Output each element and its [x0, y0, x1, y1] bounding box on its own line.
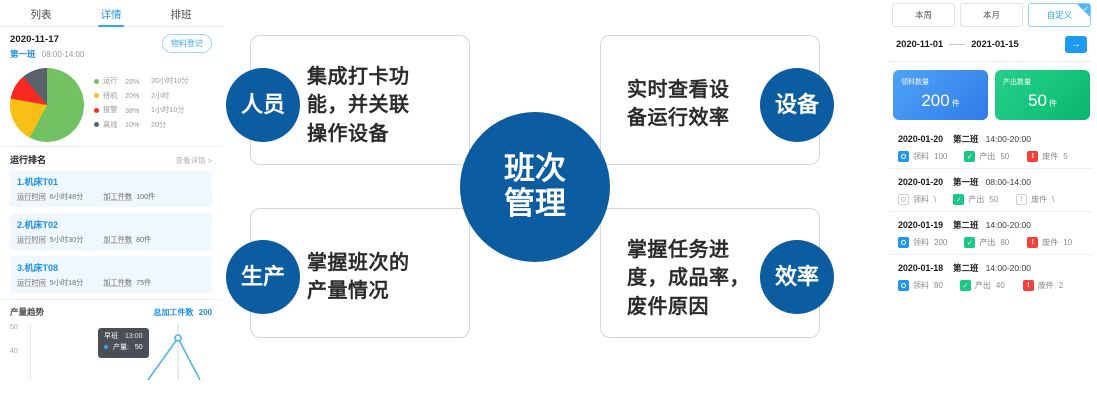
stat-label: 废件: [1042, 237, 1058, 248]
stat-label: 领料: [913, 237, 929, 248]
pie-chart-graphic: [10, 68, 84, 142]
shift-time: 08:00-14:00: [42, 50, 85, 59]
parts-value: 80件: [136, 235, 151, 245]
record-header: 2020-01-20 第二班 14:00-20:00: [898, 133, 1085, 145]
kpi-value: 200: [921, 91, 949, 110]
stat-label: 产出: [975, 280, 991, 291]
record-header: 2020-01-18 第二班 14:00-20:00: [898, 262, 1085, 274]
y-tick-40: 40: [10, 348, 18, 355]
range-tab-custom[interactable]: 自定义 ✓: [1028, 3, 1091, 27]
legend-dot-running: [94, 79, 99, 84]
record-date: 2020-01-20: [898, 134, 943, 144]
legend-label: 运行: [103, 76, 125, 86]
machine-name: 2.机床T02: [17, 218, 205, 231]
screenshot-root: 列表 详情 排班 2020-11-17 第一班 08:00-14:00 物料登记…: [0, 0, 1097, 418]
trend-title: 产量趋势: [10, 306, 44, 318]
ranking-title: 运行排名: [10, 153, 46, 166]
shift-info: 2020-11-17 第一班 08:00-14:00: [10, 34, 84, 60]
kpi-label: 产出数量: [1003, 77, 1082, 87]
kpi-value: 50: [1028, 91, 1047, 110]
stat-scrap: ! 废件 2: [1023, 280, 1063, 291]
runtime-label: 运行时间: [17, 235, 46, 245]
stat-value: 5: [1063, 152, 1067, 161]
node-circle-efficiency: 效率: [760, 240, 834, 314]
target-icon: [898, 280, 909, 291]
stat-output: ✓ 产出 50: [964, 151, 1009, 162]
hub-circle-shift-management: 班次 管理: [460, 112, 610, 262]
record-shift: 第二班: [953, 262, 979, 274]
feature-card-personnel-text: 集成打卡功 能，并关联 操作设备: [307, 63, 410, 148]
ranking-more-link[interactable]: 查看详情 >: [176, 155, 212, 166]
alert-icon: !: [1027, 237, 1038, 248]
record-date: 2020-01-19: [898, 220, 943, 230]
kpi-label: 领料数量: [901, 77, 980, 87]
stat-value: 200: [934, 238, 947, 247]
stat-label: 废件: [1031, 194, 1047, 205]
stat-value: 50: [1000, 152, 1009, 161]
feature-card-equipment-text: 实时查看设 备运行效率: [627, 76, 730, 133]
record-time: 14:00-20:00: [986, 134, 1031, 144]
legend-duration: 20分: [151, 120, 166, 130]
stat-label: 产出: [979, 237, 995, 248]
stat-label: 产出: [979, 151, 995, 162]
range-tab-this-week[interactable]: 本周: [892, 3, 955, 27]
stat-value: 80: [1000, 238, 1009, 247]
record-shift: 第一班: [953, 176, 979, 188]
record-row[interactable]: 2020-01-18 第二班 14:00-20:00 领料 80 ✓ 产出 40…: [890, 255, 1093, 297]
legend-label: 离线: [103, 120, 125, 130]
legend-percent: 28%: [125, 77, 151, 86]
record-time: 14:00-20:00: [986, 220, 1031, 230]
ranking-item[interactable]: 2.机床T02 运行时间 5小时30分 加工件数 80件: [10, 213, 212, 250]
stat-output: ✓ 产出 50: [953, 194, 998, 205]
runtime-value: 5小时30分: [50, 235, 84, 245]
runtime-label: 运行时间: [17, 278, 46, 288]
alert-icon: !: [1016, 194, 1027, 205]
machine-stats: 运行时间 5小时18分 加工件数 75件: [17, 278, 205, 288]
range-tab-custom-label: 自定义: [1047, 10, 1073, 20]
shift-subline: 第一班 08:00-14:00: [10, 48, 84, 60]
check-icon: ✓: [964, 237, 975, 248]
tooltip-series: 产量: 50: [104, 343, 143, 354]
legend-label: 报警: [103, 105, 125, 115]
runtime-value: 5小时18分: [50, 278, 84, 288]
record-row[interactable]: 2020-01-20 第一班 08:00-14:00 领料 \ ✓ 产出 50 …: [890, 169, 1093, 212]
material-record-panel: 本周 本月 自定义 ✓ 2020-11-01 2021-01-15 → 领料数量…: [886, 0, 1097, 418]
record-shift: 第二班: [953, 219, 979, 231]
stat-label: 领料: [913, 194, 929, 205]
stat-value: \: [934, 195, 936, 204]
shift-date: 2020-11-17: [10, 34, 84, 45]
legend-item: 运行 28% 20小时10分: [94, 76, 189, 86]
stat-value: \: [1052, 195, 1054, 204]
range-end-date[interactable]: 2021-01-15: [971, 39, 1019, 50]
stat-value: 10: [1063, 238, 1072, 247]
parts-value: 100件: [136, 192, 155, 202]
record-stats: 领料 200 ✓ 产出 80 ! 废件 10: [898, 237, 1085, 248]
check-icon: ✓: [964, 151, 975, 162]
legend-item: 待机 20% 2小时: [94, 91, 189, 101]
check-icon: ✓: [953, 194, 964, 205]
record-header: 2020-01-20 第一班 08:00-14:00: [898, 176, 1085, 188]
range-tab-group: 本周 本月 自定义 ✓: [886, 0, 1097, 27]
tooltip-dot-icon: [104, 345, 108, 349]
legend-dot-standby: [94, 93, 99, 98]
stat-label: 废件: [1042, 151, 1058, 162]
machine-stats: 运行时间 5小时30分 加工件数 80件: [17, 235, 205, 245]
record-date: 2020-01-20: [898, 177, 943, 187]
range-submit-arrow-icon[interactable]: →: [1065, 36, 1087, 53]
node-circle-equipment: 设备: [760, 68, 834, 142]
stat-material: 领料 \: [898, 194, 936, 205]
tab-bar: 列表 详情 排班: [0, 0, 222, 27]
shift-name: 第一班: [10, 49, 36, 59]
stat-scrap: ! 废件 5: [1027, 151, 1067, 162]
stat-value: 100: [934, 152, 947, 161]
kpi-unit: 件: [1049, 99, 1057, 108]
target-icon: [898, 151, 909, 162]
record-stats: 领料 \ ✓ 产出 50 ! 废件 \: [898, 194, 1085, 205]
alert-icon: !: [1023, 280, 1034, 291]
kpi-value-wrap: 200件: [901, 91, 980, 111]
stat-label: 废件: [1038, 280, 1054, 291]
tooltip-header: 早班 13:00: [104, 332, 143, 343]
stat-label: 产出: [968, 194, 984, 205]
tab-detail[interactable]: 详情: [76, 7, 146, 26]
range-separator: [949, 44, 965, 45]
parts-value: 75件: [136, 278, 151, 288]
trend-header: 产量趋势 总加工件数 200: [0, 299, 222, 320]
node-circle-production: 生产: [226, 240, 300, 314]
legend-percent: 10%: [125, 120, 151, 129]
ranking-item[interactable]: 1.机床T01 运行时间 6小时48分 加工件数 100件: [10, 170, 212, 207]
stat-material: 领料 100: [898, 151, 947, 162]
legend-duration: 20小时10分: [151, 76, 189, 86]
record-header: 2020-01-19 第二班 14:00-20:00: [898, 219, 1085, 231]
runtime-label: 运行时间: [17, 192, 46, 202]
record-stats: 领料 100 ✓ 产出 50 ! 废件 5: [898, 151, 1085, 162]
shift-detail-panel: 列表 详情 排班 2020-11-17 第一班 08:00-14:00 物料登记…: [0, 0, 222, 418]
production-trend-chart: 50 40 早班 13:00 产量: 50: [10, 322, 212, 380]
stat-material: 领料 80: [898, 280, 943, 291]
selected-check-icon: ✓: [1077, 4, 1090, 17]
stat-output: ✓ 产出 80: [964, 237, 1009, 248]
stat-value: 2: [1059, 281, 1063, 290]
material-register-button[interactable]: 物料登记: [162, 34, 212, 53]
feature-card-efficiency-text: 掌握任务进 度，成品率， 废件原因: [627, 236, 750, 321]
record-time: 14:00-20:00: [986, 263, 1031, 273]
record-date: 2020-01-18: [898, 263, 943, 273]
legend-percent: 20%: [125, 91, 151, 100]
machine-name: 1.机床T01: [17, 175, 205, 188]
parts-label: 加工件数: [103, 278, 132, 288]
stat-label: 领料: [913, 280, 929, 291]
pie-legend: 运行 28% 20小时10分 待机 20% 2小时 报警 38% 1小时10分: [94, 76, 189, 134]
machine-stats: 运行时间 6小时48分 加工件数 100件: [17, 192, 205, 202]
stat-scrap: ! 废件 \: [1016, 194, 1054, 205]
stat-value: 80: [934, 281, 943, 290]
runtime-value: 6小时48分: [50, 192, 84, 202]
target-icon: [898, 237, 909, 248]
record-row[interactable]: 2020-01-19 第二班 14:00-20:00 领料 200 ✓ 产出 8…: [890, 212, 1093, 255]
legend-item: 报警 38% 1小时10分: [94, 105, 189, 115]
range-tab-this-month[interactable]: 本月: [960, 3, 1023, 27]
machine-name: 3.机床T08: [17, 261, 205, 274]
stat-label: 领料: [913, 151, 929, 162]
tab-schedule[interactable]: 排班: [146, 7, 216, 26]
kpi-card-material-qty: 领料数量 200件: [893, 70, 988, 120]
tooltip-time: 13:00: [125, 333, 143, 340]
kpi-value-wrap: 50件: [1003, 91, 1082, 111]
legend-dot-alarm: [94, 108, 99, 113]
date-range-row: 2020-11-01 2021-01-15 →: [890, 27, 1093, 62]
range-start-date[interactable]: 2020-11-01: [896, 39, 943, 50]
legend-duration: 1小时10分: [151, 105, 185, 115]
legend-dot-offline: [94, 122, 99, 127]
kpi-unit: 件: [952, 99, 960, 108]
legend-percent: 38%: [125, 106, 151, 115]
trend-total: 总加工件数 200: [153, 307, 212, 318]
chart-tooltip: 早班 13:00 产量: 50: [98, 328, 149, 358]
alert-icon: !: [1027, 151, 1038, 162]
stat-value: 40: [996, 281, 1005, 290]
status-pie-chart: 运行 28% 20小时10分 待机 20% 2小时 报警 38% 1小时10分: [0, 64, 222, 144]
stat-scrap: ! 废件 10: [1027, 237, 1072, 248]
stat-output: ✓ 产出 40: [960, 280, 1005, 291]
tooltip-shift: 早班: [104, 333, 118, 340]
record-stats: 领料 80 ✓ 产出 40 ! 废件 2: [898, 280, 1085, 291]
legend-duration: 2小时: [151, 91, 169, 101]
kpi-card-output-qty: 产出数量 50件: [995, 70, 1090, 120]
legend-item: 离线 10% 20分: [94, 120, 189, 130]
feature-card-production-text: 掌握班次的 产量情况: [307, 249, 410, 306]
concept-diagram: 集成打卡功 能，并关联 操作设备 实时查看设 备运行效率 掌握班次的 产量情况 …: [222, 0, 882, 418]
ranking-header: 运行排名 查看详情 >: [0, 146, 222, 170]
shift-header: 2020-11-17 第一班 08:00-14:00 物料登记: [0, 27, 222, 64]
target-icon: [898, 194, 909, 205]
tooltip-series-label: 产量:: [113, 344, 129, 351]
parts-label: 加工件数: [103, 235, 132, 245]
tooltip-series-value: 50: [135, 344, 143, 351]
tab-list[interactable]: 列表: [6, 7, 76, 26]
stat-value: 50: [989, 195, 998, 204]
trend-total-label: 总加工件数: [153, 308, 193, 317]
record-time: 08:00-14:00: [986, 177, 1031, 187]
parts-label: 加工件数: [103, 192, 132, 202]
node-circle-personnel: 人员: [226, 68, 300, 142]
ranking-item[interactable]: 3.机床T08 运行时间 5小时18分 加工件数 75件: [10, 256, 212, 293]
trend-total-value: 200: [199, 308, 212, 317]
stat-material: 领料 200: [898, 237, 947, 248]
kpi-cards: 领料数量 200件 产出数量 50件: [886, 62, 1097, 126]
record-row[interactable]: 2020-01-20 第二班 14:00-20:00 领料 100 ✓ 产出 5…: [890, 126, 1093, 169]
y-tick-50: 50: [10, 324, 18, 331]
check-icon: ✓: [960, 280, 971, 291]
legend-label: 待机: [103, 91, 125, 101]
record-shift: 第二班: [953, 133, 979, 145]
